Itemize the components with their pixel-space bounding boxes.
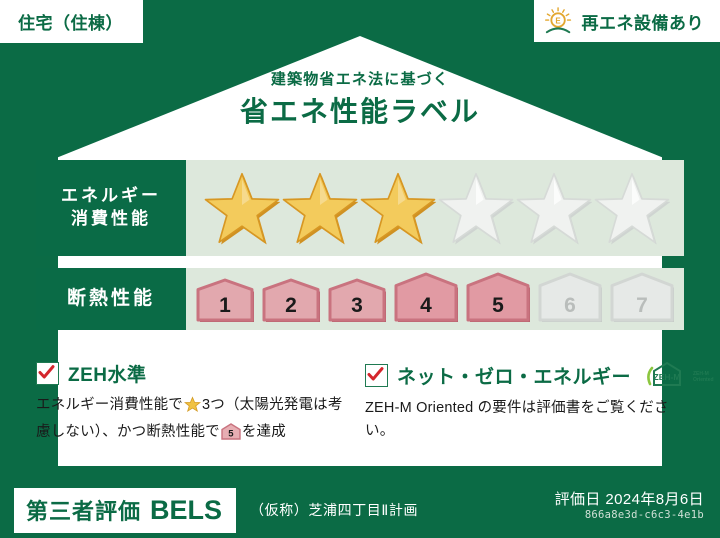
star-empty-icon	[516, 171, 592, 245]
star-filled-icon	[204, 171, 280, 245]
criteria-section: ZEH水準 エネルギー消費性能で3つ（太陽光発電は考慮しない）、かつ断熱性能で5…	[36, 360, 684, 460]
insulation-performance-levels: 1234567	[186, 268, 684, 330]
bels-en-label: BELS	[150, 495, 222, 526]
zeh-m-logo-icon: ZEH-M ZEH-M Oriented	[644, 360, 718, 390]
bels-energy-label: 住宅（住棟） E 再エネ設備あり 建築物省エネ法に基づく 省	[0, 0, 720, 538]
energy-label-line1: エネルギー	[61, 185, 161, 208]
star-icon	[184, 396, 201, 421]
checkmark-icon	[365, 364, 388, 387]
criterion-zeh-standard: ZEH水準 エネルギー消費性能で3つ（太陽光発電は考慮しない）、かつ断熱性能で5…	[36, 360, 355, 460]
svg-text:ZEH-M: ZEH-M	[654, 372, 681, 382]
criterion-nze-description: ZEH-M Oriented の要件は評価書をご覧ください。	[365, 397, 684, 444]
energy-consumption-label: エネルギー 消費性能	[36, 160, 186, 256]
insulation-level-inactive: 7	[608, 270, 676, 322]
insulation-level-active: 4	[392, 270, 460, 322]
checkmark-icon	[36, 362, 59, 385]
bels-certification-box: 第三者評価 BELS	[14, 488, 236, 533]
bels-jp-label: 第三者評価	[26, 494, 141, 526]
insulation-performance-label: 断熱性能	[36, 268, 186, 330]
svg-text:E: E	[555, 16, 560, 25]
star-filled-icon	[360, 171, 436, 245]
criterion-zeh-description: エネルギー消費性能で3つ（太陽光発電は考慮しない）、かつ断熱性能で5を達成	[36, 394, 355, 449]
insulation-level-active: 3	[326, 276, 388, 322]
criterion-zeh-title: ZEH水準	[68, 360, 147, 387]
criterion-nze-header: ネット・ゼロ・エネルギー ZEH-M ZEH-M Oriented	[365, 360, 684, 390]
insulation-label-text: 断熱性能	[67, 286, 155, 312]
project-name: （仮称）芝浦四丁目Ⅱ計画	[250, 500, 418, 520]
solar-sun-icon: E	[544, 7, 574, 35]
criterion-zeh-header: ZEH水準	[36, 360, 355, 387]
zeh-desc-part1: エネルギー消費性能で	[36, 397, 183, 413]
insulation-level-active: 5	[464, 270, 532, 322]
building-type-tag-label: 住宅（住棟）	[18, 14, 123, 33]
criterion-net-zero-energy: ネット・ゼロ・エネルギー ZEH-M ZEH-M Oriented ZEH-M …	[365, 360, 684, 460]
svg-text:5: 5	[228, 429, 234, 440]
certificate-uuid: 866a8e3d-c6c3-4e1b	[585, 509, 704, 521]
insulation-level-inactive: 6	[536, 270, 604, 322]
svg-text:Oriented: Oriented	[693, 377, 714, 383]
footer-bar: 第三者評価 BELS （仮称）芝浦四丁目Ⅱ計画 評価日 2024年8月6日 86…	[0, 476, 720, 538]
building-type-tag: 住宅（住棟）	[0, 0, 143, 43]
energy-consumption-row: エネルギー 消費性能	[36, 160, 684, 256]
zeh-desc-part3: を達成	[242, 424, 286, 440]
star-filled-icon	[282, 171, 358, 245]
label-subtitle: 建築物省エネ法に基づく	[0, 68, 720, 89]
renewable-energy-tag: E 再エネ設備あり	[534, 0, 720, 42]
energy-label-line2: 消費性能	[71, 208, 151, 231]
evaluation-date: 評価日 2024年8月6日	[555, 488, 704, 509]
star-empty-icon	[594, 171, 670, 245]
star-empty-icon	[438, 171, 514, 245]
insulation-level-active: 1	[194, 276, 256, 322]
criterion-nze-title: ネット・ゼロ・エネルギー	[397, 362, 631, 389]
insulation-performance-row: 断熱性能 1234567	[36, 268, 684, 330]
renewable-energy-tag-label: 再エネ設備あり	[582, 9, 705, 34]
energy-consumption-stars	[186, 160, 684, 256]
insulation-house-badge-icon: 5	[221, 423, 241, 448]
insulation-level-active: 2	[260, 276, 322, 322]
label-title: 省エネ性能ラベル	[0, 90, 720, 130]
